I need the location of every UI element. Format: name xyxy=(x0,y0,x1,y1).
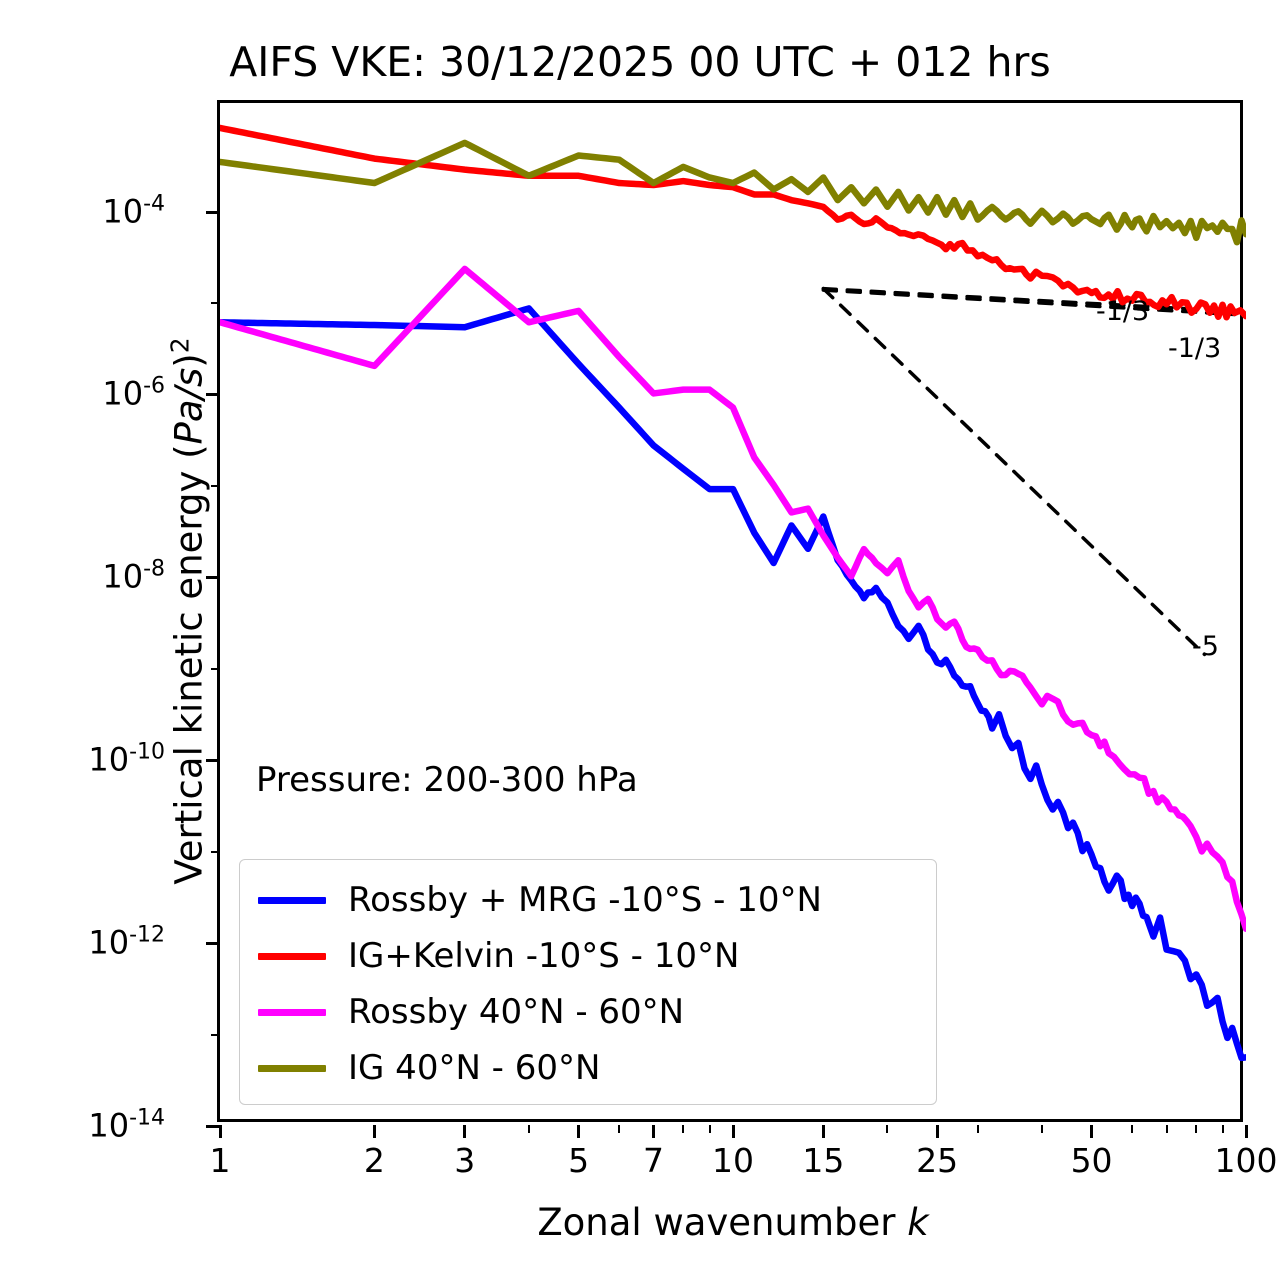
x-tick-label: 100 xyxy=(1215,1141,1278,1180)
legend-color-swatch xyxy=(258,1065,326,1072)
x-tick-minor xyxy=(886,1125,888,1133)
x-tick-minor xyxy=(618,1125,620,1133)
y-tick-mark xyxy=(206,576,220,579)
legend-item[interactable]: IG+Kelvin -10°S - 10°N xyxy=(258,928,918,984)
legend-item[interactable]: IG 40°N - 60°N xyxy=(258,1040,918,1096)
legend-item-label: Rossby 40°N - 60°N xyxy=(348,995,684,1029)
x-tick-minor xyxy=(709,1125,711,1133)
chart-title: AIFS VKE: 30/12/2025 00 UTC + 012 hrs xyxy=(0,38,1280,86)
y-tick-label: 10-14 xyxy=(88,1106,165,1145)
series-line-2 xyxy=(220,269,1246,929)
slope-label-minus-five: -5 xyxy=(1192,631,1219,662)
x-tick-mark xyxy=(936,1125,939,1138)
x-tick-mark xyxy=(463,1125,466,1138)
x-tick-minor xyxy=(1195,1125,1197,1133)
y-tick-mark xyxy=(206,942,220,945)
legend-color-swatch xyxy=(258,953,326,960)
x-tick-label: 5 xyxy=(568,1141,589,1180)
y-tick-label: 10-4 xyxy=(102,191,165,230)
y-tick-minor xyxy=(211,851,220,853)
legend: Rossby + MRG -10°S - 10°NIG+Kelvin -10°S… xyxy=(239,859,937,1105)
figure-root: AIFS VKE: 30/12/2025 00 UTC + 012 hrs Ve… xyxy=(0,0,1280,1288)
x-tick-mark xyxy=(219,1125,222,1138)
x-tick-label: 10 xyxy=(712,1141,754,1180)
x-tick-minor xyxy=(682,1125,684,1133)
legend-item-label: IG 40°N - 60°N xyxy=(348,1051,600,1085)
x-tick-label: 7 xyxy=(643,1141,664,1180)
y-tick-minor xyxy=(211,1034,220,1036)
legend-item[interactable]: Rossby 40°N - 60°N xyxy=(258,984,918,1040)
y-tick-label: 10-6 xyxy=(102,374,165,413)
x-tick-mark xyxy=(1090,1125,1093,1138)
x-tick-mark xyxy=(577,1125,580,1138)
x-tick-minor xyxy=(1222,1125,1224,1133)
y-tick-label: 10-12 xyxy=(88,923,165,962)
slope-label-minus-one-third-lower: -1/3 xyxy=(1168,333,1221,364)
x-tick-minor xyxy=(1041,1125,1043,1133)
x-tick-minor xyxy=(977,1125,979,1133)
x-tick-minor xyxy=(1131,1125,1133,1133)
x-axis-label: Zonal wavenumber k xyxy=(220,1201,1246,1244)
x-tick-mark xyxy=(652,1125,655,1138)
x-tick-mark xyxy=(822,1125,825,1138)
x-tick-mark xyxy=(373,1125,376,1138)
legend-item-label: Rossby + MRG -10°S - 10°N xyxy=(348,883,822,917)
x-tick-label: 1 xyxy=(210,1141,231,1180)
x-tick-minor xyxy=(528,1125,530,1133)
y-tick-minor xyxy=(211,668,220,670)
legend-color-swatch xyxy=(258,1009,326,1016)
legend-item[interactable]: Rossby + MRG -10°S - 10°N xyxy=(258,872,918,928)
legend-item-label: IG+Kelvin -10°S - 10°N xyxy=(348,939,739,973)
y-tick-minor xyxy=(211,485,220,487)
plot-area: Vertical kinetic energy (Pa/s)2 Zonal wa… xyxy=(217,100,1243,1122)
y-tick-label: 10-8 xyxy=(102,557,165,596)
legend-color-swatch xyxy=(258,897,326,904)
y-tick-label: 10-10 xyxy=(88,740,165,779)
y-tick-mark xyxy=(206,211,220,214)
y-tick-minor xyxy=(211,302,220,304)
x-tick-mark xyxy=(732,1125,735,1138)
x-tick-label: 15 xyxy=(802,1141,844,1180)
x-tick-label: 25 xyxy=(916,1141,958,1180)
x-tick-label: 2 xyxy=(364,1141,385,1180)
slope-label-minus-one-third-upper: -1/3 xyxy=(1096,296,1149,327)
y-tick-mark xyxy=(206,759,220,762)
x-tick-mark xyxy=(1245,1125,1248,1138)
x-tick-label: 50 xyxy=(1071,1141,1113,1180)
pressure-annotation: Pressure: 200-300 hPa xyxy=(256,760,638,800)
x-tick-label: 3 xyxy=(454,1141,475,1180)
y-tick-mark xyxy=(206,393,220,396)
y-axis-label: Vertical kinetic energy (Pa/s)2 xyxy=(165,337,210,884)
x-tick-minor xyxy=(1166,1125,1168,1133)
